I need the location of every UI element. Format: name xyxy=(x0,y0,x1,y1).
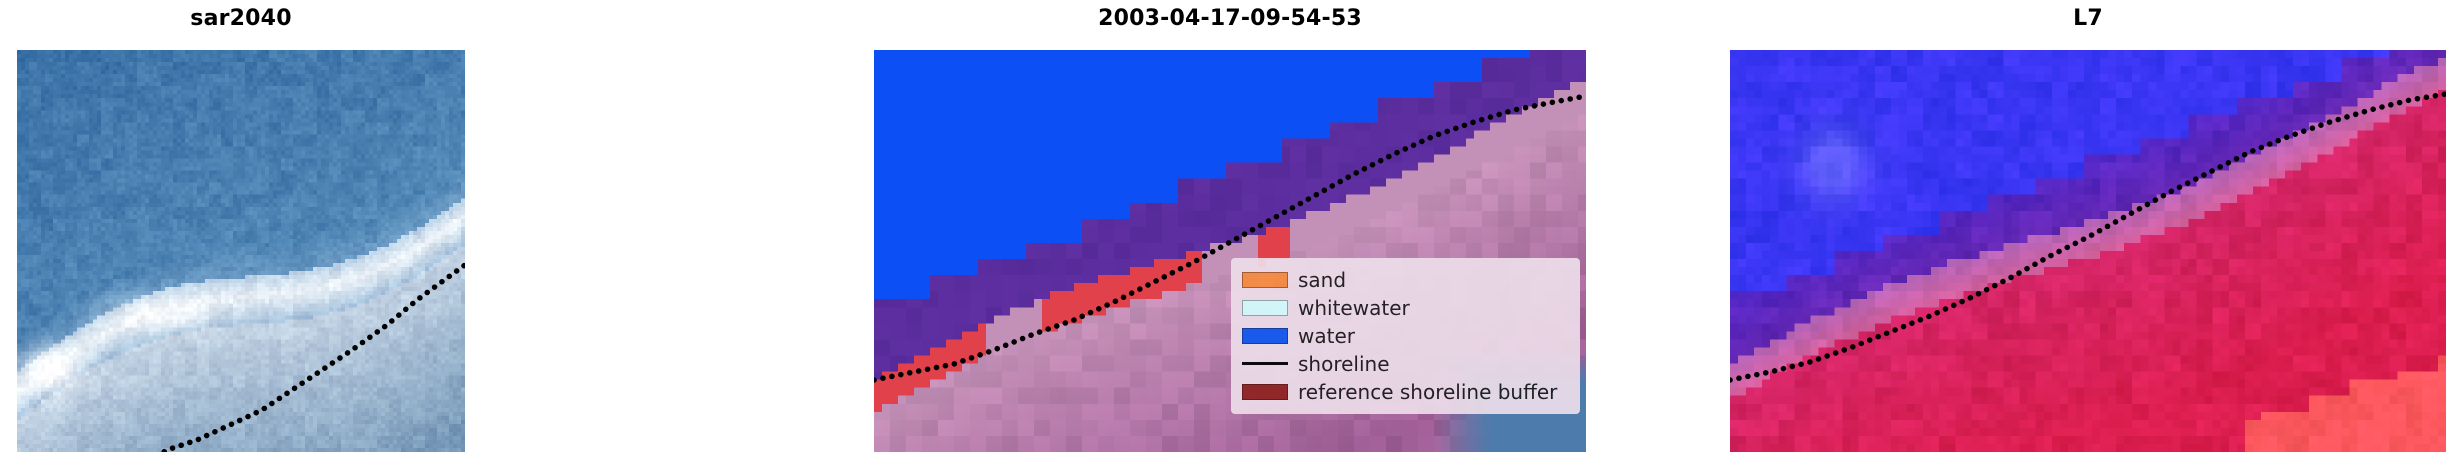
legend-color-swatch-icon xyxy=(1242,300,1288,316)
legend-item-shoreline: shoreline xyxy=(1242,350,1570,377)
legend-item-label: whitewater xyxy=(1298,298,1410,318)
panel-title-sar2040: sar2040 xyxy=(17,6,465,31)
legend-item-sand: sand xyxy=(1242,266,1570,293)
legend-item-label: shoreline xyxy=(1298,354,1390,374)
legend-line-swatch-icon xyxy=(1242,362,1288,365)
legend-item-reference: reference shoreline buffer xyxy=(1242,378,1570,405)
legend-swatch-cell xyxy=(1242,328,1298,344)
legend-item-label: reference shoreline buffer xyxy=(1298,382,1557,402)
legend-item-label: sand xyxy=(1298,270,1346,290)
legend-swatch-cell xyxy=(1242,272,1298,288)
legend-swatch-cell xyxy=(1242,300,1298,316)
satellite-raster-sar2040 xyxy=(17,50,465,452)
legend-box: sandwhitewaterwatershorelinereference sh… xyxy=(1231,258,1580,414)
legend-color-swatch-icon xyxy=(1242,328,1288,344)
legend-item-label: water xyxy=(1298,326,1355,346)
legend-item-water: water xyxy=(1242,322,1570,349)
legend-item-whitewater: whitewater xyxy=(1242,294,1570,321)
panel-title-l7: L7 xyxy=(1730,6,2446,31)
figure-canvas: sar2040 2003-04-17-09-54-53 L7 sandwhite… xyxy=(0,0,2460,464)
legend-swatch-cell xyxy=(1242,362,1298,365)
legend-color-swatch-icon xyxy=(1242,384,1288,400)
image-panel-l7[interactable] xyxy=(1730,50,2446,452)
legend-swatch-cell xyxy=(1242,384,1298,400)
panel-title-timestamp: 2003-04-17-09-54-53 xyxy=(874,6,1586,31)
l7-raster xyxy=(1730,50,2446,452)
image-panel-sar2040[interactable] xyxy=(17,50,465,452)
legend-color-swatch-icon xyxy=(1242,272,1288,288)
